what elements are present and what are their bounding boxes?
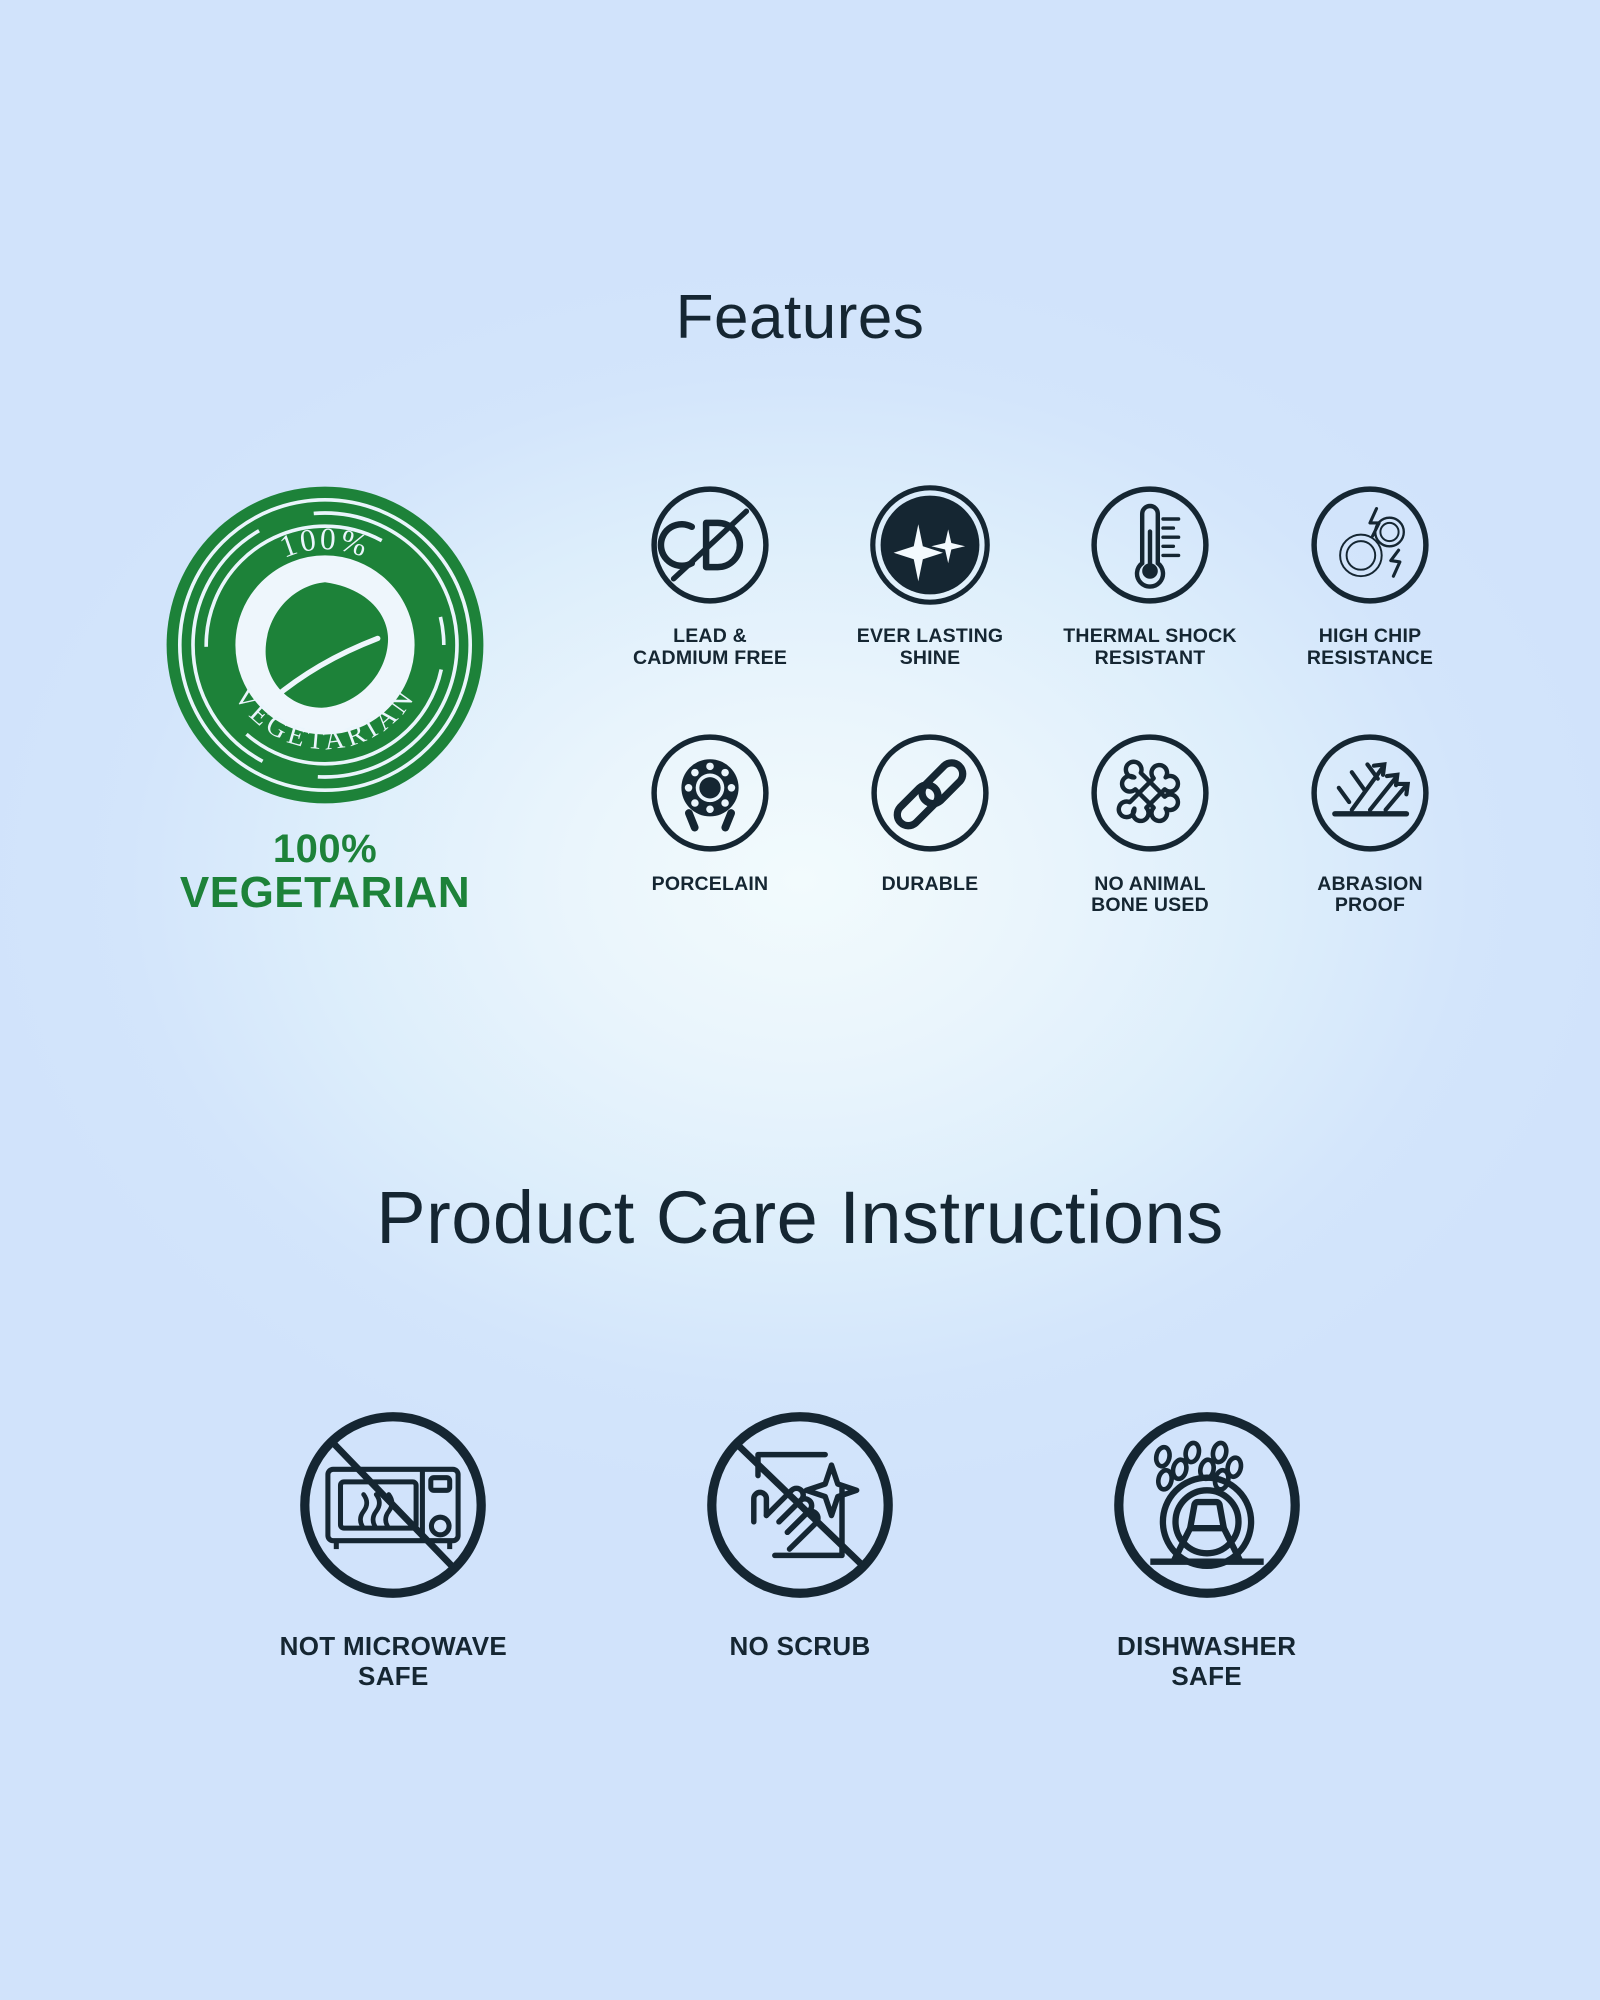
feature-label: THERMAL SHOCK RESISTANT	[1063, 626, 1236, 670]
feature-label: HIGH CHIP RESISTANCE	[1307, 626, 1433, 670]
features-heading: Features	[0, 282, 1600, 353]
feature-label: EVER LASTING SHINE	[857, 626, 1004, 670]
vegetarian-caption-line2: VEGETARIAN	[150, 870, 500, 917]
no-lead-cadmium-icon	[645, 480, 775, 610]
care-label: NOT MICROWAVE SAFE	[280, 1632, 507, 1691]
abrasion-arrows-icon	[1305, 728, 1435, 858]
care-icon-row: NOT MICROWAVE SAFE NO SCRUB	[190, 1400, 1410, 1691]
chip-resistance-icon	[1305, 480, 1435, 610]
care-item-no-scrub: NO SCRUB	[597, 1400, 1004, 1691]
feature-label: PORCELAIN	[652, 874, 769, 896]
dishwasher-safe-icon	[1102, 1400, 1312, 1610]
no-microwave-icon	[288, 1400, 498, 1610]
feature-item-abrasion-proof: ABRASION PROOF	[1260, 728, 1480, 918]
feature-item-no-animal-bone: NO ANIMAL BONE USED	[1040, 728, 1260, 918]
vegetarian-badge-block: 100% VEGETARIAN 100% VEGETARIAN	[150, 480, 500, 917]
care-label: DISHWASHER SAFE	[1117, 1632, 1296, 1691]
feature-icon-grid: LEAD & CADMIUM FREE EVER LASTING SHINE	[600, 480, 1480, 917]
chain-link-icon	[865, 728, 995, 858]
care-item-dishwasher-safe: DISHWASHER SAFE	[1003, 1400, 1410, 1691]
feature-item-porcelain: PORCELAIN	[600, 728, 820, 918]
vegetarian-caption-line1: 100%	[150, 828, 500, 870]
vegetarian-caption: 100% VEGETARIAN	[150, 828, 500, 917]
porcelain-plate-icon	[645, 728, 775, 858]
feature-label: ABRASION PROOF	[1317, 874, 1423, 918]
thermometer-icon	[1085, 480, 1215, 610]
feature-label: LEAD & CADMIUM FREE	[633, 626, 787, 670]
feature-label: NO ANIMAL BONE USED	[1091, 874, 1209, 918]
sparkle-shine-icon	[865, 480, 995, 610]
feature-label: DURABLE	[882, 874, 979, 896]
product-features-infographic: Features 100% VEGETARIAN	[0, 0, 1600, 2000]
feature-item-thermal-shock-resistant: THERMAL SHOCK RESISTANT	[1040, 480, 1260, 670]
no-scrub-icon	[695, 1400, 905, 1610]
crossed-bones-icon	[1085, 728, 1215, 858]
care-item-not-microwave-safe: NOT MICROWAVE SAFE	[190, 1400, 597, 1691]
feature-item-lead-cadmium-free: LEAD & CADMIUM FREE	[600, 480, 820, 670]
product-care-heading: Product Care Instructions	[0, 1175, 1600, 1260]
care-label: NO SCRUB	[729, 1632, 870, 1662]
vegetarian-leaf-seal-icon: 100% VEGETARIAN	[160, 480, 490, 810]
feature-item-ever-lasting-shine: EVER LASTING SHINE	[820, 480, 1040, 670]
feature-item-high-chip-resistance: HIGH CHIP RESISTANCE	[1260, 480, 1480, 670]
feature-item-durable: DURABLE	[820, 728, 1040, 918]
